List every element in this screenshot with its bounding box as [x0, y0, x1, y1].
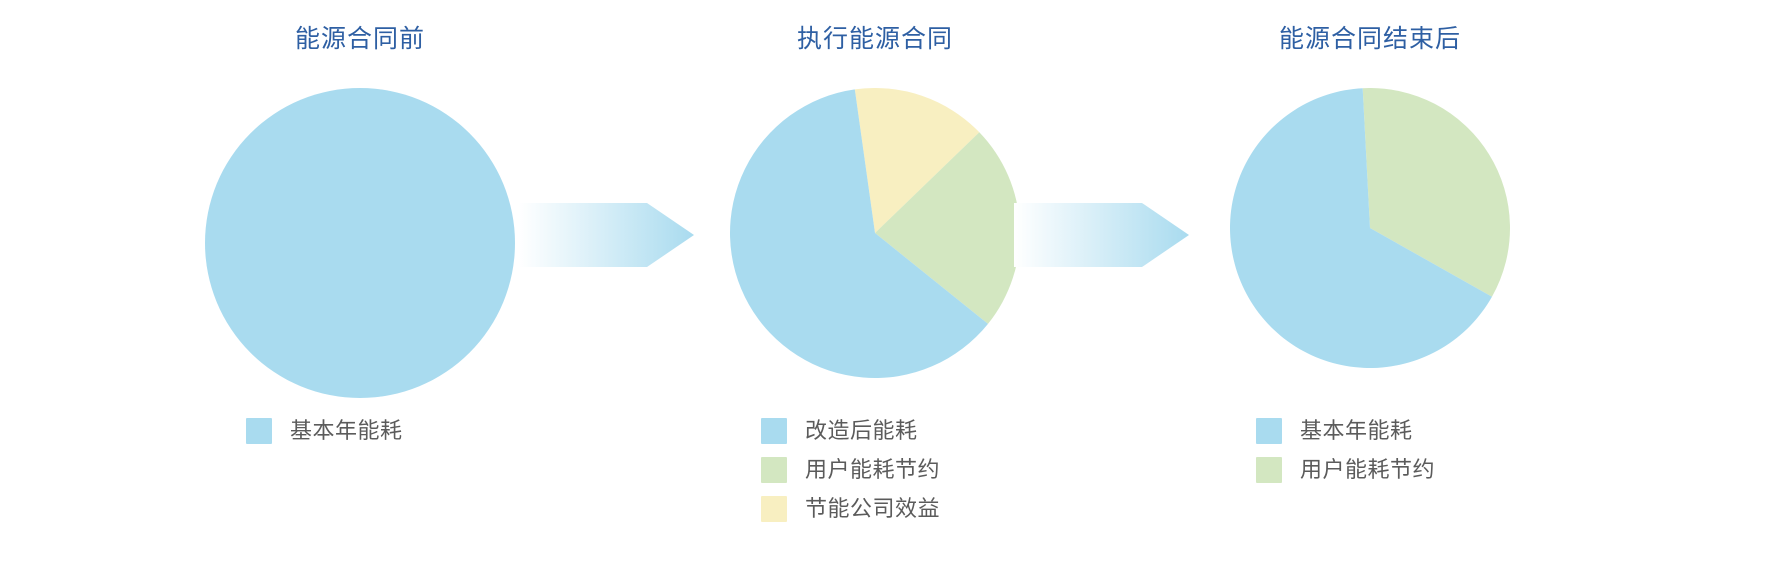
legend-item-label: 节能公司效益: [805, 496, 940, 522]
legend-before: 基本年能耗: [100, 418, 620, 444]
pie-svg-before: [200, 88, 520, 398]
legend-item[interactable]: 用户能耗节约: [1256, 457, 1435, 483]
legend-item-label: 用户能耗节约: [805, 457, 940, 483]
legend-item[interactable]: 基本年能耗: [246, 418, 403, 444]
pie-slice[interactable]: [205, 88, 515, 398]
pie-svg-after: [1230, 88, 1510, 368]
legend-during: 改造后能耗 用户能耗节约 节能公司效益: [615, 418, 1135, 522]
legend-item-label: 用户能耗节约: [1300, 457, 1435, 483]
panel-title: 能源合同前: [100, 22, 620, 56]
legend-swatch-icon: [1256, 457, 1282, 483]
legend-swatch-icon: [1256, 418, 1282, 444]
pie-svg-during: [730, 88, 1020, 378]
legend-item[interactable]: 用户能耗节约: [761, 457, 940, 483]
legend-swatch-icon: [761, 496, 787, 522]
pie-slices-before: [205, 88, 515, 398]
legend-swatch-icon: [761, 457, 787, 483]
pie-slices-after: [1230, 88, 1510, 368]
legend-item[interactable]: 节能公司效益: [761, 496, 940, 522]
legend-item[interactable]: 基本年能耗: [1256, 418, 1413, 444]
legend-item[interactable]: 改造后能耗: [761, 418, 918, 444]
pie-slices-during: [730, 88, 1020, 378]
legend-swatch-icon: [246, 418, 272, 444]
legend-swatch-icon: [761, 418, 787, 444]
legend-item-label: 基本年能耗: [290, 418, 403, 444]
panel-title: 能源合同结束后: [1110, 22, 1630, 56]
pie-chart-after: [1110, 88, 1630, 398]
legend-item-label: 改造后能耗: [805, 418, 918, 444]
legend-item-label: 基本年能耗: [1300, 418, 1413, 444]
infographic-canvas: 能源合同前 基本年能耗 执行能源合同: [0, 0, 1784, 570]
panel-title: 执行能源合同: [615, 22, 1135, 56]
panel-after-energy-contract: 能源合同结束后 基本年能耗 用户能耗节约: [1110, 0, 1630, 570]
legend-after: 基本年能耗 用户能耗节约: [1110, 418, 1630, 483]
